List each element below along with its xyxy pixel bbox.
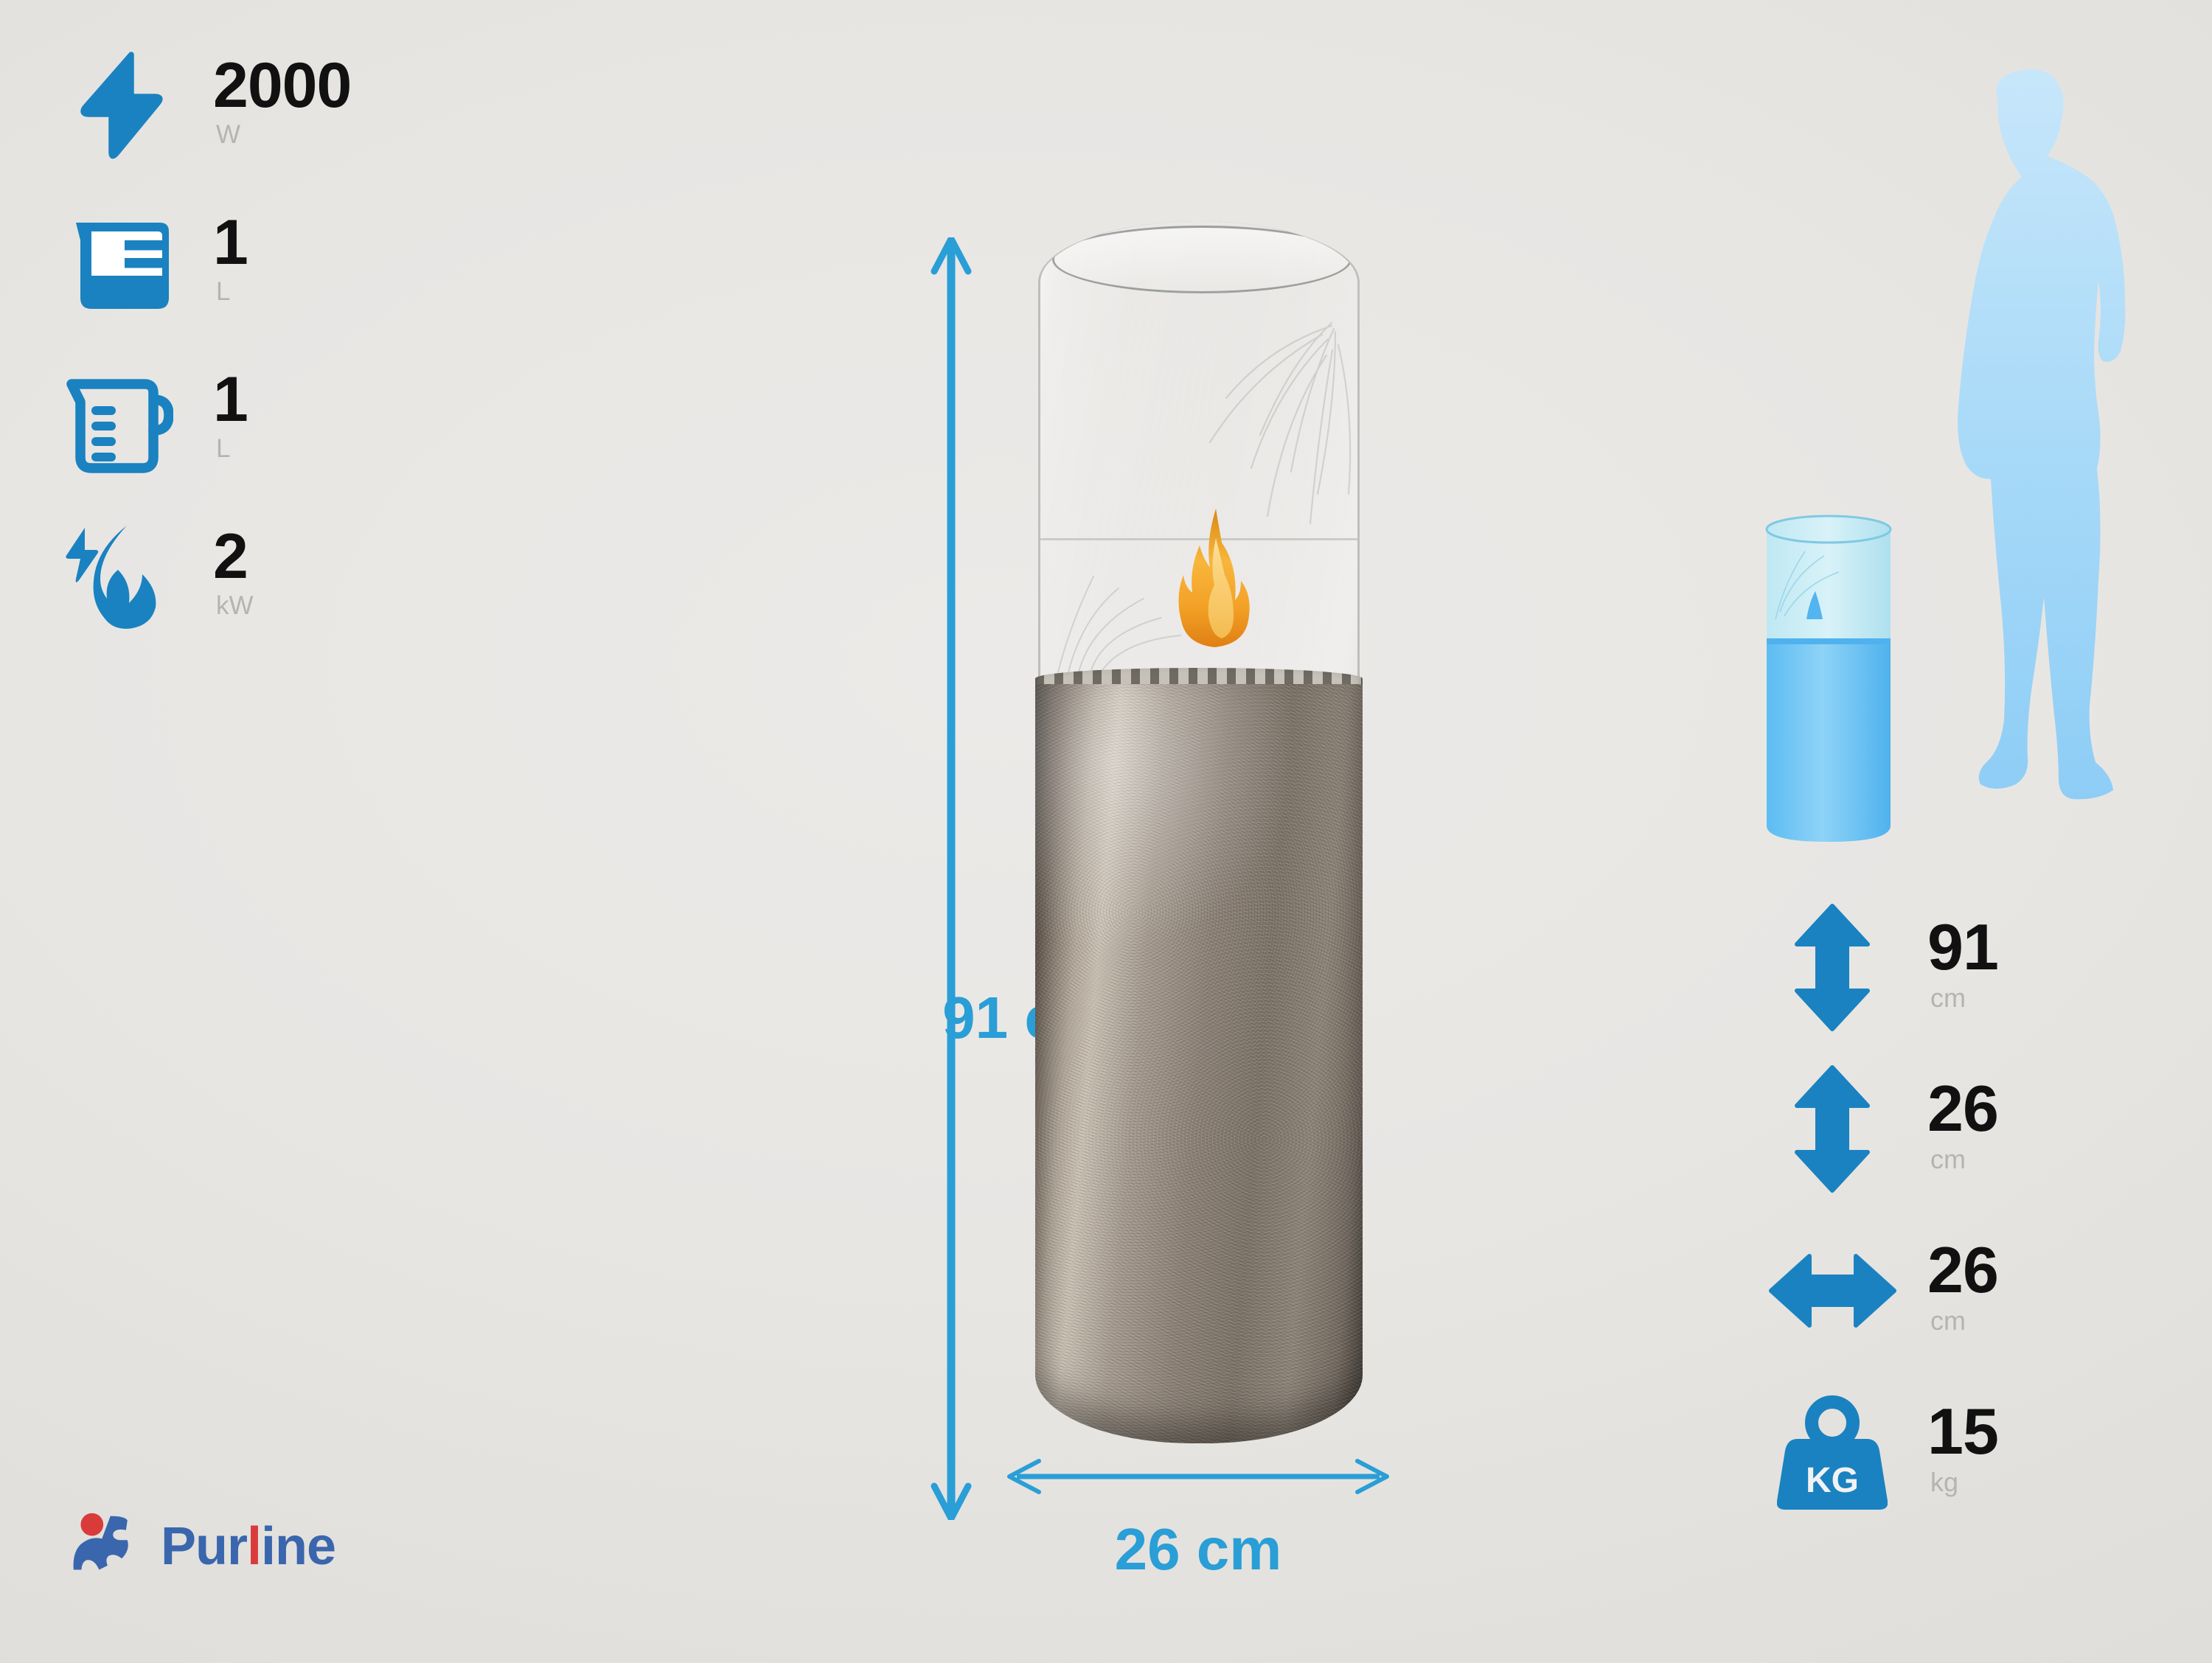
fact-row-depth: 26 cm xyxy=(1755,1061,2168,1197)
brand-logo: Purline xyxy=(71,1509,335,1583)
flame xyxy=(1170,504,1259,652)
spec-text-consumption: 1 L xyxy=(203,370,248,468)
power-bolt-icon xyxy=(63,50,203,161)
fact-value-weight: 15 xyxy=(1927,1401,1998,1462)
svg-text:KG: KG xyxy=(1806,1461,1859,1500)
fact-value-height: 91 xyxy=(1927,917,1998,978)
spec-text-capacity: 1 L xyxy=(203,213,248,311)
purline-figure-mark xyxy=(71,1509,142,1583)
fact-text-depth: 26 cm xyxy=(1910,1078,1998,1179)
measuring-jug-icon xyxy=(63,364,203,475)
spec-row-power: 2000 W xyxy=(63,41,446,170)
fact-unit-weight: kg xyxy=(1927,1462,1998,1502)
height-dimension-line xyxy=(925,237,977,1520)
purline-wordmark: Purline xyxy=(161,1520,335,1573)
wordmark-part-3: ine xyxy=(261,1517,335,1576)
arrow-left-right-icon xyxy=(1755,1250,1910,1331)
spec-unit-power: W xyxy=(213,116,351,155)
human-figure-silhouette xyxy=(1910,66,2153,826)
arrow-up-down-icon xyxy=(1755,1064,1910,1193)
bio-ethanol-fireplace-image xyxy=(1025,221,1371,1489)
scale-comparison-panel: 91 cm 26 cm xyxy=(1755,66,2168,1600)
beaker-filled-icon xyxy=(63,207,203,318)
fact-row-weight: KG 15 kg xyxy=(1755,1384,2168,1520)
width-dimension-line xyxy=(1006,1451,1390,1502)
fact-unit-height: cm xyxy=(1927,978,1998,1018)
product-showcase: 91 cm xyxy=(925,221,1397,1570)
spec-row-consumption: 1 L xyxy=(63,355,446,484)
fact-text-weight: 15 kg xyxy=(1910,1401,1998,1502)
fact-row-width: 26 cm xyxy=(1755,1222,2168,1359)
fact-unit-depth: cm xyxy=(1927,1140,1998,1179)
spec-value-consumption: 1 xyxy=(213,370,248,430)
spec-value-power: 2000 xyxy=(213,56,351,116)
wordmark-part-2: l xyxy=(247,1517,261,1576)
infographic-canvas: 2000 W 1 L xyxy=(0,0,2212,1663)
fact-row-height: 91 cm xyxy=(1755,899,2168,1036)
spec-unit-heat-output: kW xyxy=(213,587,254,626)
flame-bolt-icon xyxy=(63,521,203,632)
spec-text-power: 2000 W xyxy=(203,56,351,154)
fact-unit-width: cm xyxy=(1927,1301,1998,1341)
glass-chimney xyxy=(1038,221,1360,693)
specification-list: 2000 W 1 L xyxy=(63,41,446,641)
spec-unit-capacity: L xyxy=(213,273,248,312)
spec-value-heat-output: 2 xyxy=(213,527,254,587)
arrow-up-down-icon xyxy=(1755,903,1910,1032)
spec-row-heat-output: 2 kW xyxy=(63,512,446,641)
wordmark-part-1: Pur xyxy=(161,1517,247,1576)
width-dimension-label: 26 cm xyxy=(1006,1516,1390,1583)
fact-text-width: 26 cm xyxy=(1910,1240,1998,1341)
weight-kg-icon: KG xyxy=(1755,1393,1910,1511)
textured-metal-body xyxy=(1035,684,1363,1443)
glass-top-rim xyxy=(1052,226,1352,293)
fact-value-depth: 26 xyxy=(1927,1078,1998,1140)
fact-value-width: 26 xyxy=(1927,1240,1998,1301)
spec-unit-consumption: L xyxy=(213,430,248,469)
mini-product-scale-model xyxy=(1762,509,1895,855)
fact-text-height: 91 cm xyxy=(1910,917,1998,1018)
dimension-fact-list: 91 cm 26 cm xyxy=(1755,899,2168,1520)
spec-text-heat-output: 2 kW xyxy=(203,527,254,625)
spec-row-capacity: 1 L xyxy=(63,198,446,327)
spec-value-capacity: 1 xyxy=(213,213,248,273)
